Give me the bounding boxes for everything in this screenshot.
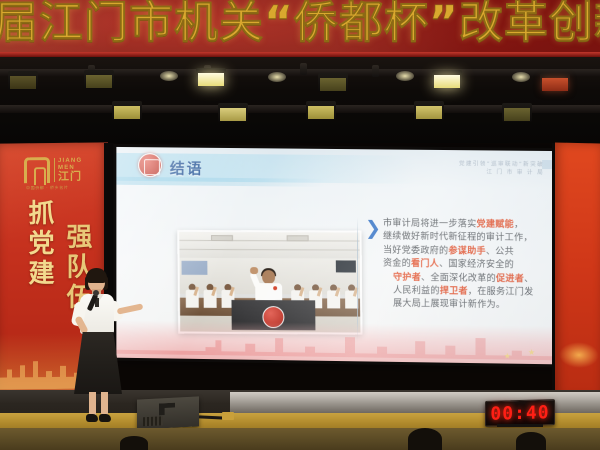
highlight-term: 促进者 bbox=[496, 274, 524, 284]
text-run: 资金的 bbox=[383, 259, 411, 269]
text-run: 继续做好新时代新征程的审计工作， bbox=[383, 232, 533, 244]
photo-side-display bbox=[182, 261, 208, 275]
stage-scene: 届江门市机关“侨都杯”改革创新 JIANGMEN 江门 中国 bbox=[0, 0, 600, 450]
slide-text-line: 展大局上展现审计新作为。 bbox=[383, 298, 544, 314]
audience-head bbox=[516, 432, 546, 450]
microphone-head-icon bbox=[93, 290, 99, 296]
logo-subtitle: 中国侨都 · 侨乡名片 bbox=[26, 185, 68, 191]
text-run: 、全面深化改革的 bbox=[421, 273, 496, 284]
text-run: 市审计局将进一步落实 bbox=[383, 219, 476, 230]
banner-title-text: 届江门市机关“侨都杯”改革创新 bbox=[0, 0, 600, 50]
countdown-timer[interactable]: 00:40 bbox=[485, 399, 555, 427]
cable-plug bbox=[222, 412, 234, 420]
text-run: 、公共 bbox=[486, 247, 514, 257]
photo-vent bbox=[287, 235, 309, 241]
highlight-term: 守护者 bbox=[393, 272, 421, 282]
presenter-leg bbox=[89, 392, 96, 416]
photo-attendee bbox=[327, 284, 340, 308]
text-run: 、国家经济安全的 bbox=[439, 259, 514, 270]
audience-row bbox=[0, 428, 600, 450]
stage-light bbox=[318, 73, 348, 92]
stage-light bbox=[8, 71, 38, 90]
audience-head bbox=[408, 428, 442, 450]
light-glow bbox=[268, 72, 286, 82]
slide-paragraph: 市审计局将进一步落实党建赋能，继续做好新时代新征程的审计工作，当好党委政府的参谋… bbox=[383, 218, 544, 314]
stage-light bbox=[540, 73, 570, 92]
speaker-horn-icon bbox=[159, 403, 175, 416]
stage-light bbox=[196, 68, 226, 87]
timer-stand bbox=[497, 424, 543, 427]
timer-display-value: 00:40 bbox=[490, 402, 549, 425]
presenter-forearm-right bbox=[117, 303, 144, 314]
slide-body-text: ❯ 市审计局将进一步落实党建赋能，继续做好新时代新征程的审计工作，当好党委政府的… bbox=[383, 218, 544, 314]
logo-divider bbox=[54, 158, 55, 182]
speaker-grill bbox=[143, 416, 163, 426]
right-banner-glow bbox=[559, 342, 599, 369]
projection-screen-frame: 结语 党建引领“巡审联动”新突破 江 门 市 审 计 局 bbox=[113, 144, 561, 367]
highlight-term: 党建赋能 bbox=[477, 220, 515, 230]
stage-light bbox=[84, 70, 114, 89]
text-run: 展大局上展现审计新作为。 bbox=[393, 299, 505, 311]
photo-vent bbox=[211, 235, 233, 241]
presenter-shoe bbox=[86, 414, 98, 422]
light-glow bbox=[160, 71, 178, 81]
audience-head bbox=[120, 436, 148, 450]
presenter-skirt bbox=[74, 332, 122, 394]
light-glow bbox=[396, 71, 414, 81]
light-glow bbox=[512, 72, 530, 82]
text-run: 当好党委政府的 bbox=[383, 245, 448, 256]
stage-light bbox=[112, 101, 142, 120]
star-icon: ★ bbox=[504, 351, 511, 360]
slide-corner-credit: 党建引领“巡审联动”新突破 江 门 市 审 计 局 bbox=[459, 160, 544, 177]
highlight-term: 参谋助手 bbox=[448, 246, 485, 256]
presenter-leg bbox=[101, 392, 108, 416]
banner-slogan-left: 抓党建 bbox=[21, 199, 58, 289]
audit-seal-icon bbox=[138, 153, 162, 177]
slide-header-band-secondary bbox=[116, 177, 325, 187]
slide-photo bbox=[177, 230, 362, 335]
photo-ceiling bbox=[179, 232, 360, 259]
photo-attendee bbox=[204, 284, 217, 308]
light-hanger bbox=[372, 65, 379, 77]
text-run: 人民利益的 bbox=[393, 286, 440, 297]
stage-light bbox=[306, 101, 336, 120]
venue-top-banner: 届江门市机关“侨都杯”改革创新 bbox=[0, 0, 600, 57]
star-icon: ★ bbox=[528, 348, 535, 357]
photo-side-tv bbox=[336, 260, 356, 272]
stage-light bbox=[432, 70, 462, 89]
stage-light bbox=[502, 103, 532, 122]
slide-corner-line-2: 江 门 市 审 计 局 bbox=[459, 168, 544, 177]
ceiling-lighting-truss bbox=[0, 57, 600, 143]
chevron-right-icon: ❯ bbox=[365, 219, 381, 238]
projection-screen: 结语 党建引领“巡审联动”新突破 江 门 市 审 计 局 bbox=[116, 147, 558, 364]
jiangmen-logo: JIANGMEN 江门 中国侨都 · 侨乡名片 bbox=[20, 155, 90, 188]
right-rollup-banner bbox=[555, 143, 600, 399]
light-hanger bbox=[300, 63, 307, 75]
stage-light bbox=[218, 103, 248, 122]
presenter-shoe bbox=[99, 414, 111, 422]
highlight-term: 看门人 bbox=[411, 259, 439, 269]
presenter-hair bbox=[86, 268, 107, 283]
stage-floor-monitor bbox=[137, 396, 199, 429]
gate-icon bbox=[24, 157, 50, 183]
text-run: 、 bbox=[524, 274, 533, 284]
logo-cn-text: 江门 bbox=[58, 171, 82, 183]
stage-light bbox=[414, 101, 444, 120]
photo-attendee bbox=[186, 284, 199, 308]
slide-title: 结语 bbox=[170, 157, 204, 178]
text-run: ，在服务江门发 bbox=[468, 287, 534, 298]
presenter-figure bbox=[60, 268, 146, 430]
text-run: ， bbox=[514, 220, 523, 230]
highlight-term: 捍卫者 bbox=[440, 286, 468, 296]
